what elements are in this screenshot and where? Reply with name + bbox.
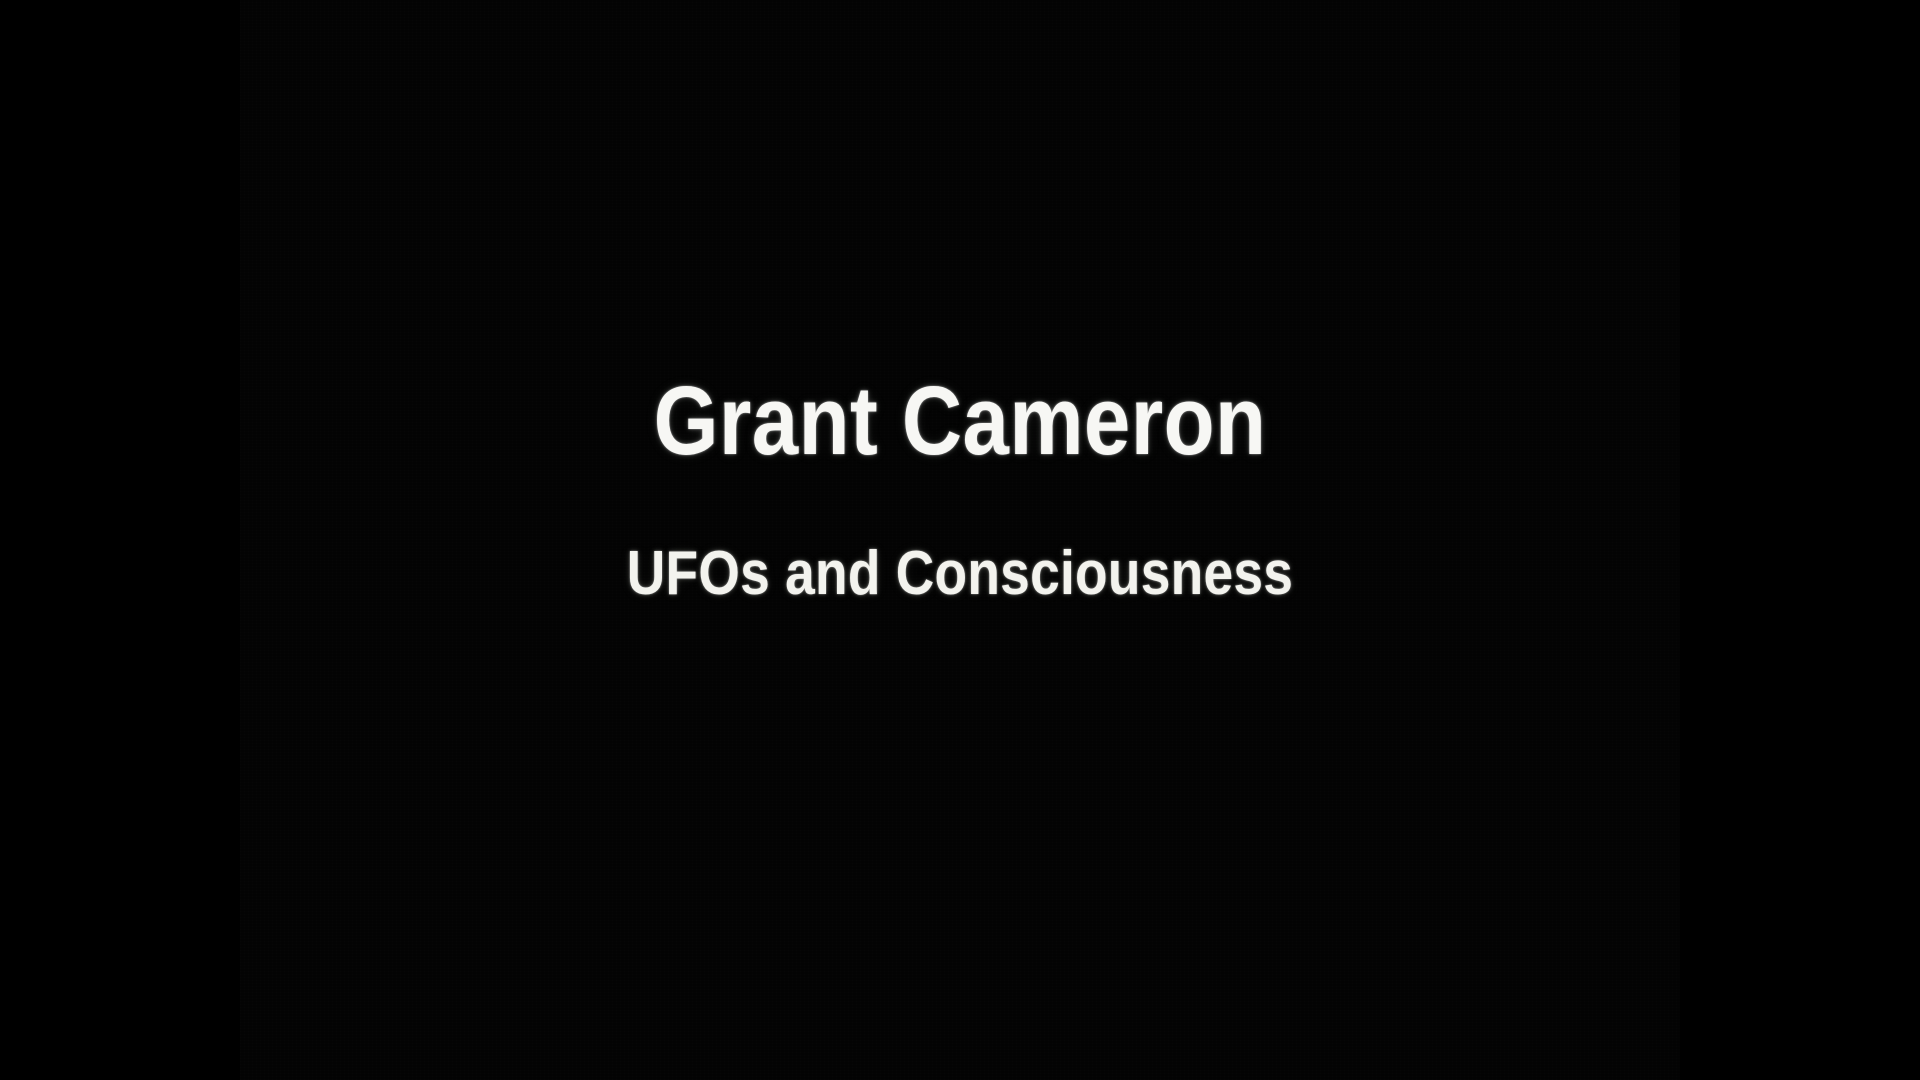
video-title-card: Grant Cameron UFOs and Consciousness — [0, 0, 1920, 1080]
page-subtitle: UFOs and Consciousness — [627, 543, 1293, 605]
title-text-block: Grant Cameron UFOs and Consciousness — [0, 0, 1920, 1080]
page-title: Grant Cameron — [654, 372, 1267, 469]
